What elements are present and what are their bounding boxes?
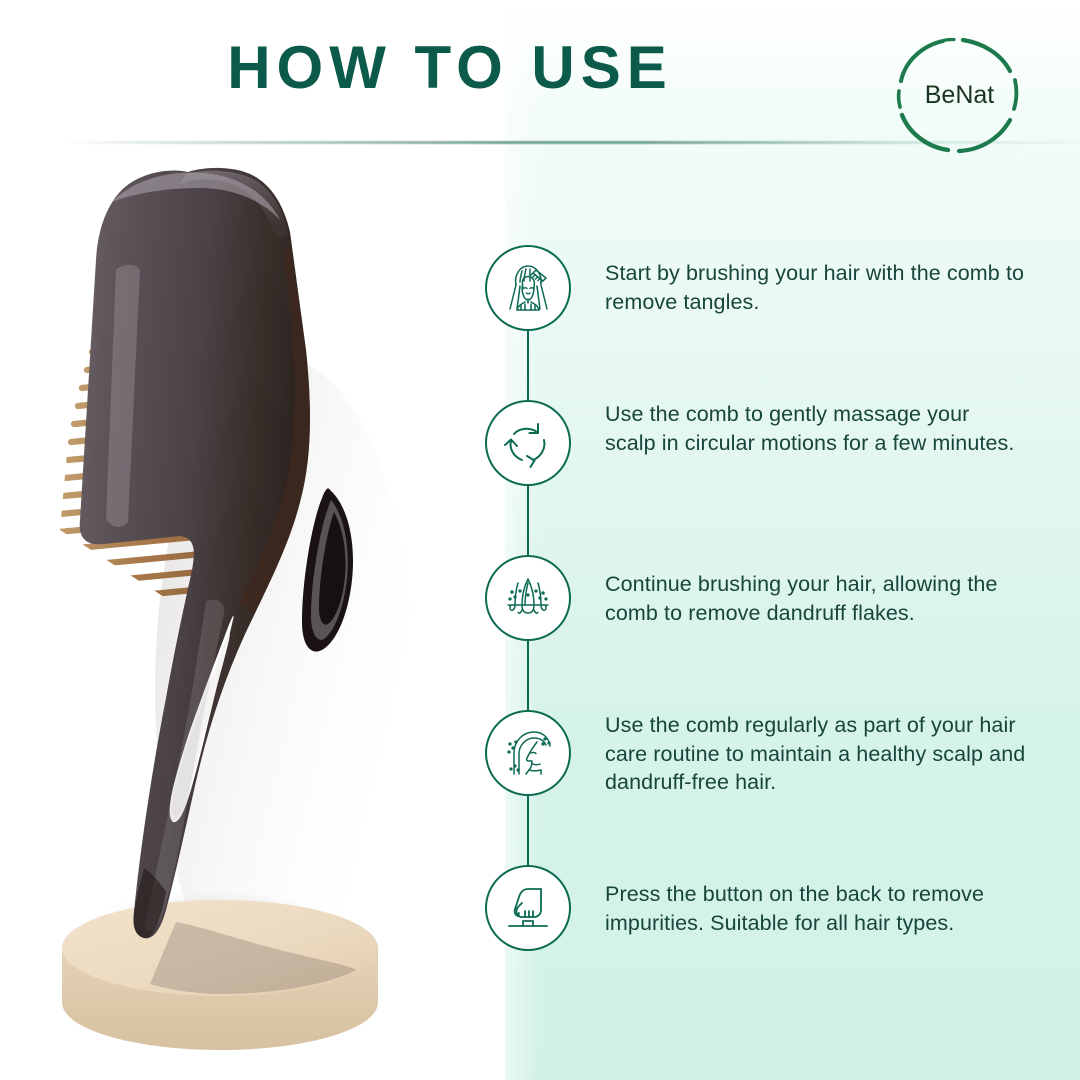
infographic-canvas: HOW TO USE BeNat xyxy=(0,0,1080,1080)
brand-logo: BeNat xyxy=(893,33,1026,158)
circular-arrows-icon xyxy=(500,415,556,471)
logo-wordmark: BeNat xyxy=(893,81,1026,110)
step-5-text: Press the button on the back to remove i… xyxy=(605,880,1035,937)
woman-brushing-hair-icon xyxy=(497,257,559,319)
step-4-text: Use the comb regularly as part of your h… xyxy=(605,711,1033,797)
step-1-icon-circle xyxy=(485,245,571,331)
step-2-text: Use the comb to gently massage your scal… xyxy=(605,400,1025,457)
step-4-icon-circle xyxy=(485,710,571,796)
page-title: HOW TO USE xyxy=(0,38,900,98)
step-3-icon-circle xyxy=(485,555,571,641)
step-3-text: Continue brushing your hair, allowing th… xyxy=(605,570,1025,627)
face-profile-scalp-icon xyxy=(497,722,559,784)
step-1-text: Start by brushing your hair with the com… xyxy=(605,259,1025,316)
step-5-icon-circle xyxy=(485,865,571,951)
step-2-icon-circle xyxy=(485,400,571,486)
hair-follicle-dandruff-icon xyxy=(497,567,559,629)
hand-pressing-button-icon xyxy=(499,879,557,937)
steps-list: Start by brushing your hair with the com… xyxy=(0,0,1080,1080)
